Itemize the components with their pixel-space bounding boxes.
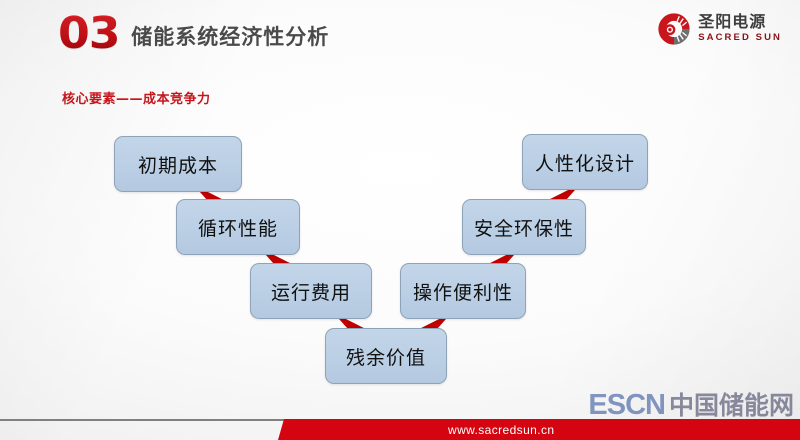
flow-node-label: 残余价值 [346, 343, 426, 370]
flow-node-label: 操作便利性 [413, 278, 513, 305]
flow-node[interactable]: 循环性能 [176, 199, 300, 255]
flow-node[interactable]: 残余价值 [325, 328, 447, 384]
slide-title-block: 03 储能系统经济性分析 [58, 14, 329, 54]
slide-subtitle: 核心要素——成本竞争力 [62, 88, 211, 107]
footer-website-url: www.sacredsun.cn [448, 423, 554, 437]
flow-node-label: 运行费用 [271, 278, 351, 305]
flow-node-label: 循环性能 [198, 214, 278, 241]
flow-node-label: 人性化设计 [535, 149, 635, 176]
page-title: 储能系统经济性分析 [131, 21, 329, 51]
flow-node[interactable]: 运行费用 [250, 263, 372, 319]
logo-name-en: SACRED SUN [698, 32, 782, 43]
flow-node[interactable]: 初期成本 [114, 136, 242, 192]
flow-node[interactable]: 安全环保性 [462, 199, 586, 255]
flow-node[interactable]: 人性化设计 [522, 134, 648, 190]
watermark-escn-text: ESCN [588, 389, 665, 422]
sacred-sun-logo-icon [657, 12, 691, 46]
flow-node[interactable]: 操作便利性 [400, 263, 526, 319]
logo-name-cn: 圣阳电源 [698, 14, 782, 31]
flow-diagram: 初期成本循环性能运行费用残余价值操作便利性安全环保性人性化设计 [0, 0, 800, 440]
flow-node-label: 初期成本 [138, 151, 218, 178]
presentation-slide: 03 储能系统经济性分析 核心要素——成本竞争力 圣阳电源 SACRED SUN [0, 0, 800, 440]
company-logo: 圣阳电源 SACRED SUN [657, 12, 782, 46]
footer-gray-rule [0, 419, 300, 421]
flow-node-label: 安全环保性 [474, 214, 574, 241]
section-number: 03 [58, 14, 120, 54]
watermark-cn-text: 中国储能网 [669, 386, 794, 422]
logo-text-block: 圣阳电源 SACRED SUN [698, 14, 782, 43]
escn-watermark: ESCN 中国储能网 [588, 386, 794, 422]
